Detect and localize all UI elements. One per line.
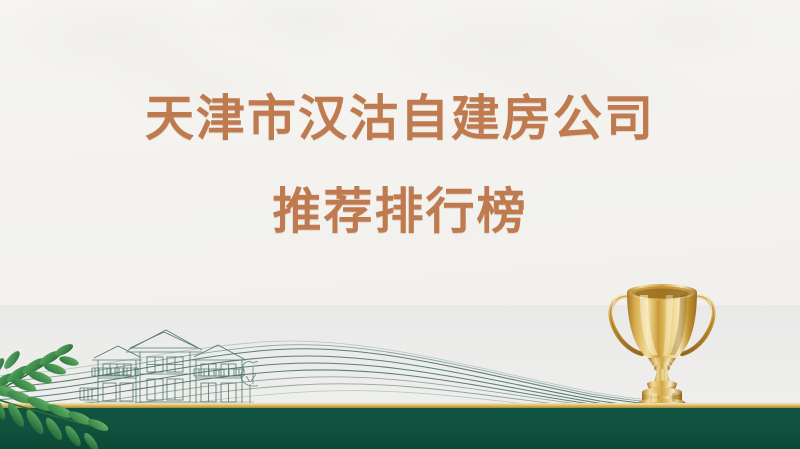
trophy-icon [596,276,728,408]
headline-line-2: 推荐排行榜 [0,188,800,237]
ranking-banner: 天津市汉沽自建房公司 推荐排行榜 [0,0,800,449]
banner-headline: 天津市汉沽自建房公司 推荐排行榜 [0,95,800,237]
headline-line-1: 天津市汉沽自建房公司 [0,95,800,144]
leaf-branch-lower-overlay [0,386,140,449]
shrub-line-art [241,362,258,404]
